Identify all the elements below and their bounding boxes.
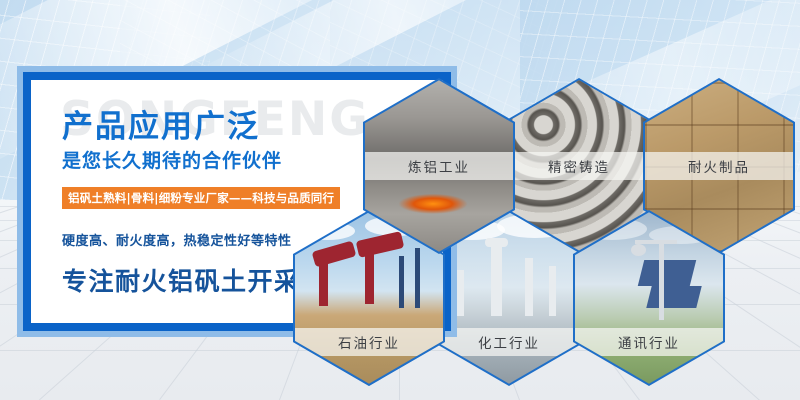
page-subtitle: 是您长久期待的合作伙伴 (62, 146, 282, 173)
tagline-badge: 铝矾土熟料|骨料|细粉专业厂家——科技与品质同行 (62, 187, 340, 209)
hex-label: 化工行业 (435, 328, 583, 356)
hex-label: 炼铝工业 (365, 152, 513, 180)
hex-label: 精密铸造 (505, 152, 653, 180)
promotional-banner: 炼铝工业 精密铸造 耐火制品 石油行业 (0, 0, 800, 400)
hex-label: 石油行业 (295, 328, 443, 356)
hex-label: 耐火制品 (645, 152, 793, 180)
hex-label: 通讯行业 (575, 328, 723, 356)
feature-text: 硬度高、耐火度高，热稳定性好等特性 (62, 230, 292, 249)
page-title: 产品应用广泛 (62, 101, 260, 146)
